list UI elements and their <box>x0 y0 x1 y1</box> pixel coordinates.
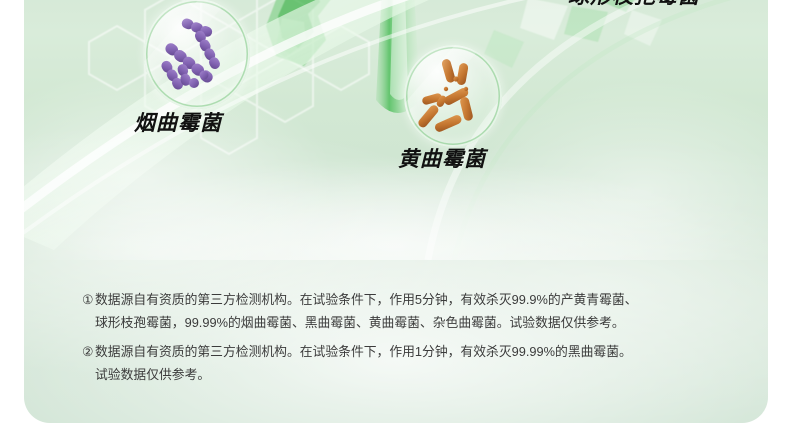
footnote-marker: ① <box>82 288 93 311</box>
footnote-item: ① 数据源自有资质的第三方检测机构。在试验条件下，作用5分钟，有效杀灭99.9%… <box>82 288 702 334</box>
dish-aspergillus-fumigatus <box>144 0 250 109</box>
mold-test-panel: 球形枝孢霉菌 烟曲霉菌 黄曲霉菌 ① 数据源自有资质的第三方检测机构。在试验条件… <box>0 0 790 439</box>
dish-aspergillus-flavus <box>404 45 502 147</box>
label-aspergillus-fumigatus: 烟曲霉菌 <box>134 107 222 137</box>
green-background-panel: 球形枝孢霉菌 烟曲霉菌 黄曲霉菌 ① 数据源自有资质的第三方检测机构。在试验条件… <box>24 0 768 423</box>
footnote-line: 试验数据仅供参考。 <box>95 363 702 386</box>
footnote-item: ② 数据源自有资质的第三方检测机构。在试验条件下，作用1分钟，有效杀灭99.99… <box>82 340 702 386</box>
footnote-line: 数据源自有资质的第三方检测机构。在试验条件下，作用1分钟，有效杀灭99.99%的… <box>95 340 702 363</box>
label-cladosporium-sphaerospermum: 球形枝孢霉菌 <box>568 0 700 10</box>
footnote-marker: ② <box>82 340 93 363</box>
footnote-line: 数据源自有资质的第三方检测机构。在试验条件下，作用5分钟，有效杀灭99.9%的产… <box>95 288 702 311</box>
footnotes: ① 数据源自有资质的第三方检测机构。在试验条件下，作用5分钟，有效杀灭99.9%… <box>82 288 702 392</box>
footnote-line: 球形枝孢霉菌，99.99%的烟曲霉菌、黑曲霉菌、黄曲霉菌、杂色曲霉菌。试验数据仅… <box>95 311 702 334</box>
label-aspergillus-flavus: 黄曲霉菌 <box>398 143 486 173</box>
